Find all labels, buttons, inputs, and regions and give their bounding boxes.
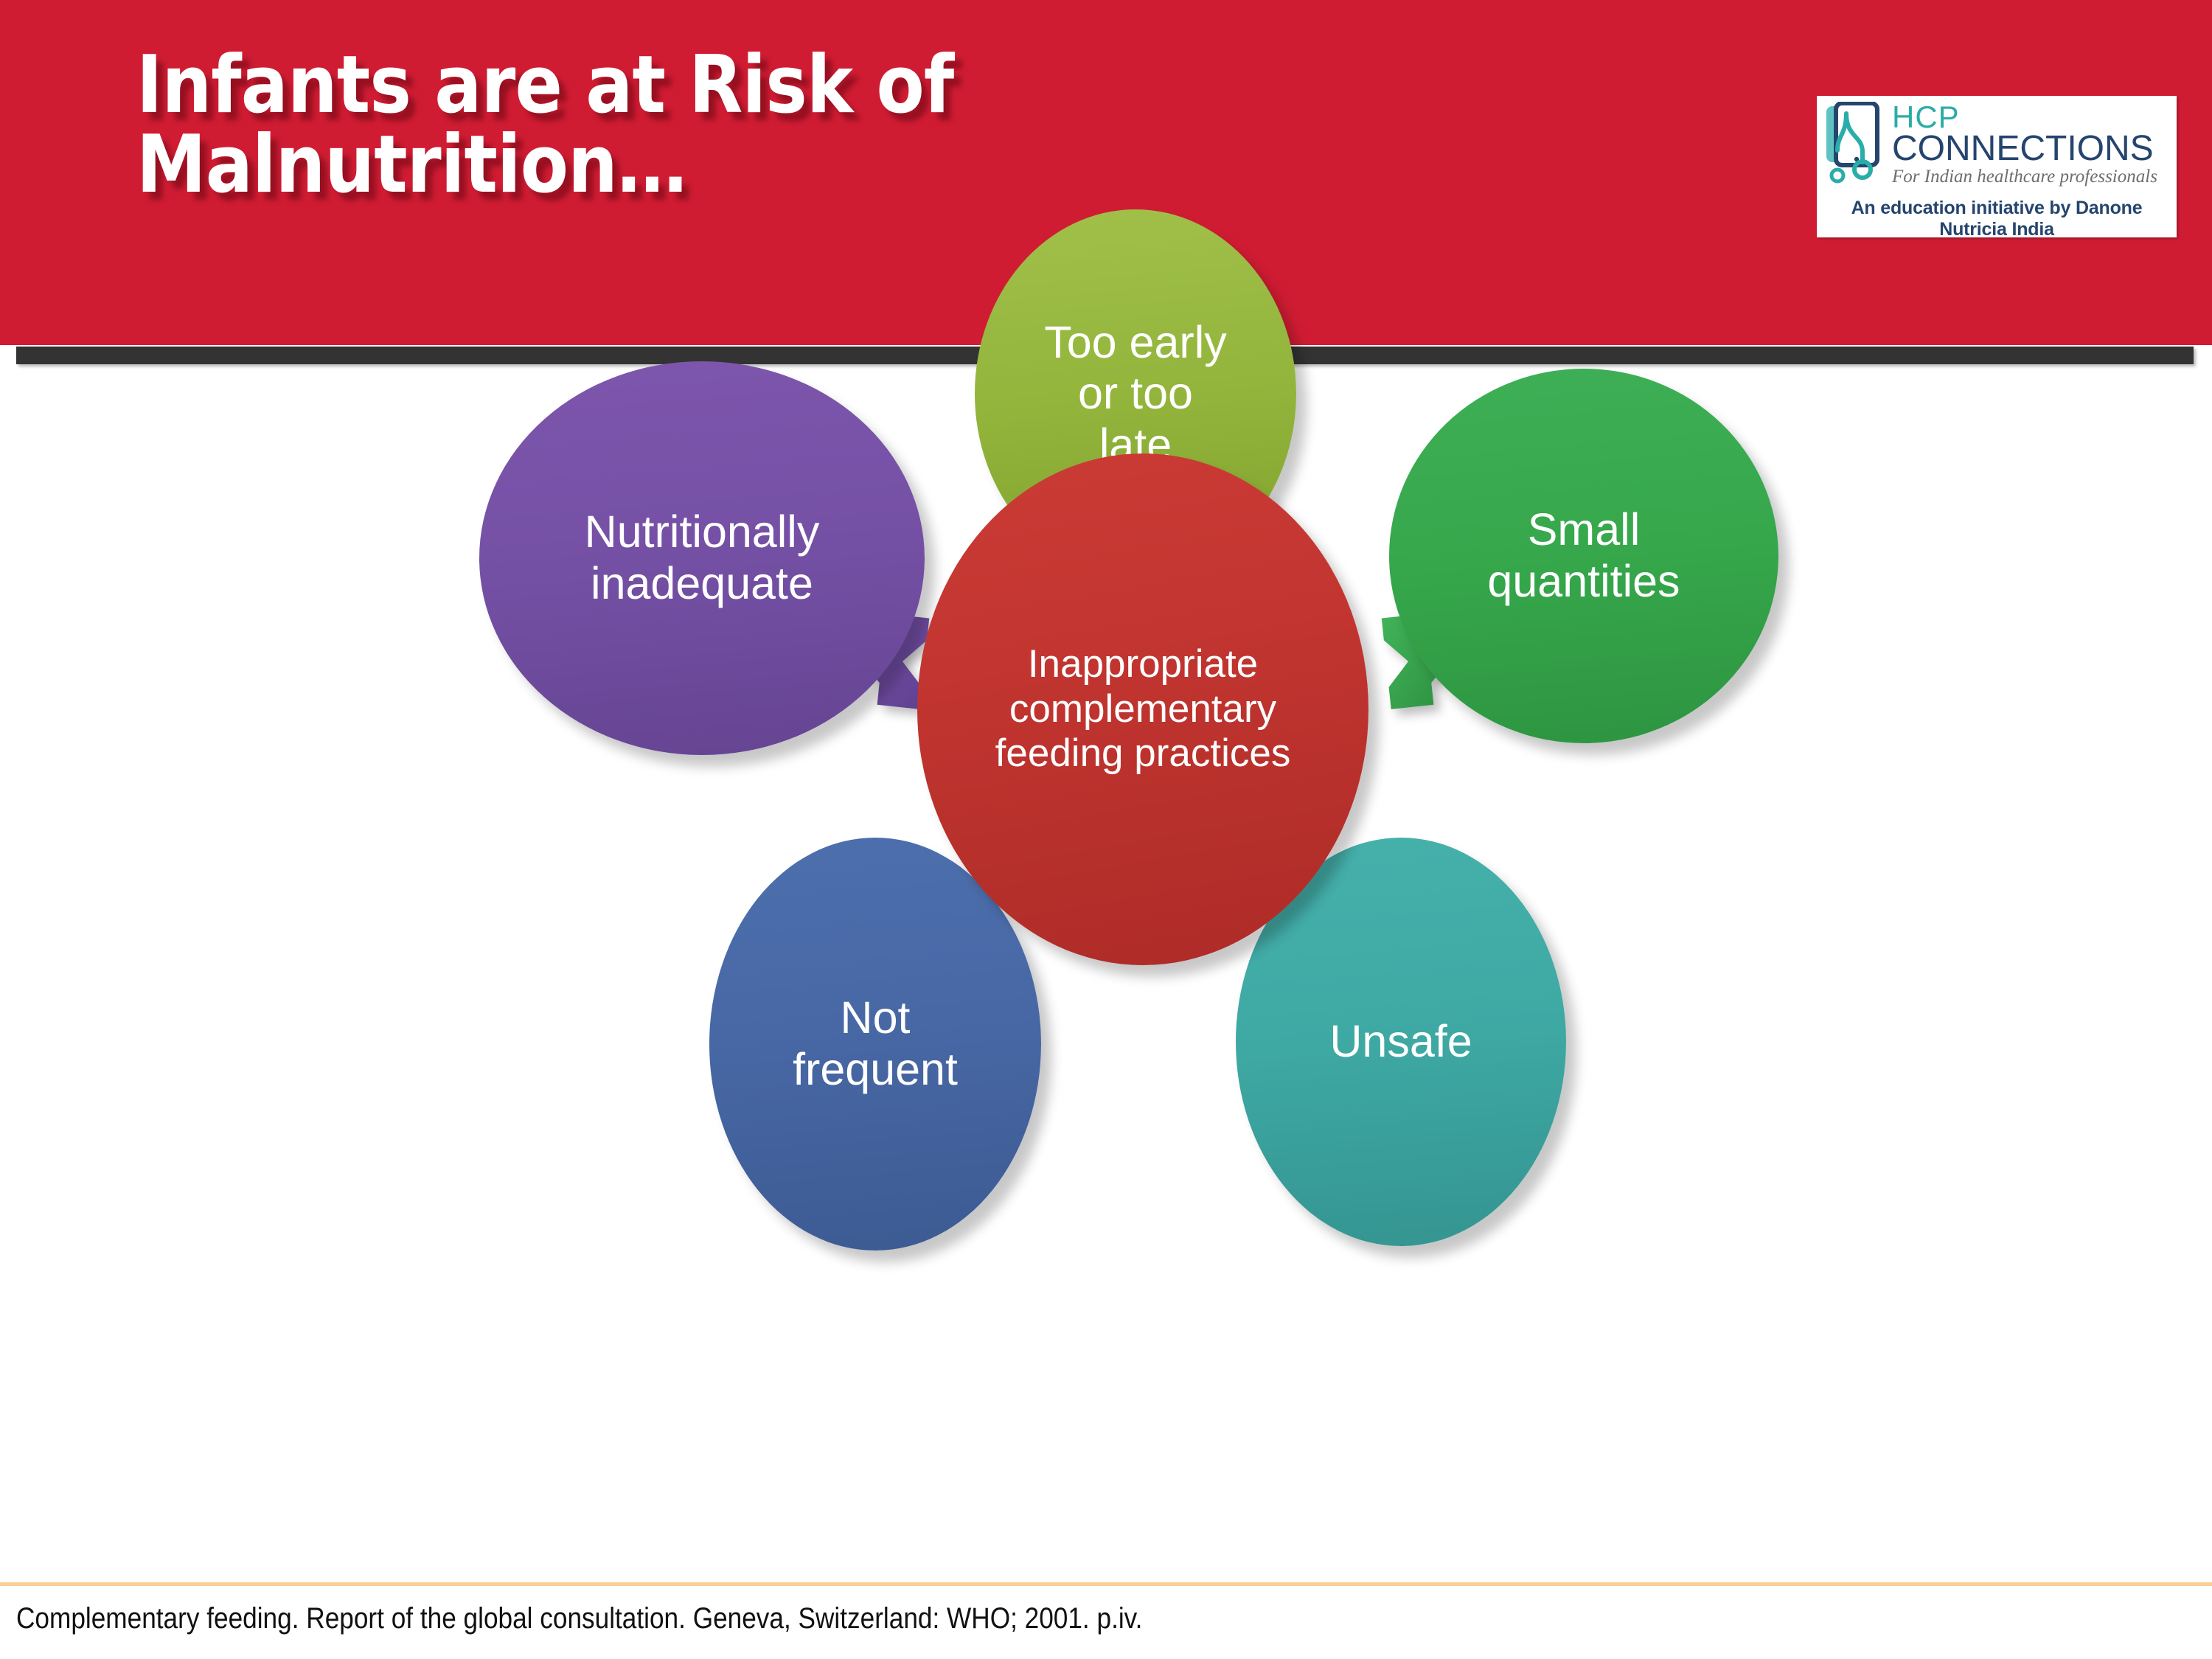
tablet-stethoscope-icon bbox=[1824, 102, 1888, 190]
node-nutritionally-inadequate[interactable]: Nutritionally inadequate bbox=[479, 361, 925, 755]
logo-initiative-text: An education initiative by Danone Nutric… bbox=[1824, 198, 2169, 240]
logo-tagline-text: For Indian healthcare professionals bbox=[1892, 167, 2169, 187]
footer-divider bbox=[0, 1582, 2212, 1586]
logo-wordmark: HCP CONNECTIONS For Indian healthcare pr… bbox=[1892, 102, 2169, 187]
footer-citation: Complementary feeding. Report of the glo… bbox=[16, 1601, 1833, 1635]
node-small-quantities[interactable]: Small quantities bbox=[1389, 369, 1778, 743]
page-title: Infants are at Risk of Malnutrition… bbox=[136, 46, 1369, 205]
node-not-frequent-label: Not frequent bbox=[787, 992, 964, 1095]
logo-connections-text: CONNECTIONS bbox=[1892, 132, 2169, 166]
logo-top-row: HCP CONNECTIONS For Indian healthcare pr… bbox=[1824, 102, 2169, 196]
node-nutritionally-inadequate-label: Nutritionally inadequate bbox=[579, 507, 826, 609]
node-small-quantities-label: Small quantities bbox=[1481, 504, 1686, 607]
logo-hcp-text: HCP bbox=[1892, 103, 2169, 132]
node-center-inappropriate-feeding[interactable]: Inappropriate complementary feeding prac… bbox=[917, 453, 1368, 965]
node-unsafe-label: Unsafe bbox=[1324, 1016, 1478, 1068]
node-too-early-or-too-late-label: Too early or too late bbox=[1038, 317, 1233, 471]
radial-cycle-diagram: Too early or too late Small quantities U… bbox=[0, 369, 2212, 1563]
hcp-connections-logo: HCP CONNECTIONS For Indian healthcare pr… bbox=[1817, 96, 2177, 237]
node-center-label: Inappropriate complementary feeding prac… bbox=[990, 642, 1297, 776]
